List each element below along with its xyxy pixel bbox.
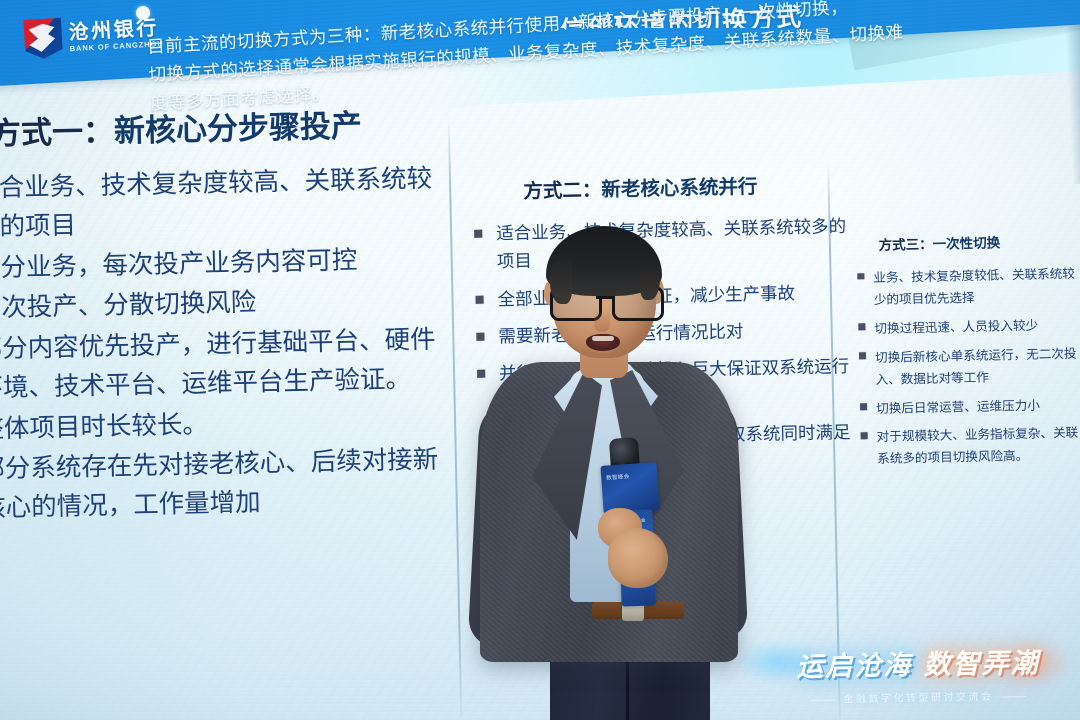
list-item-text: 拆分业务，每次投产业务内容可控 — [0, 245, 358, 283]
heading-separator: ： — [83, 114, 115, 151]
list-item-text: 适合业务、技术复杂度较高、关联系统较多的项目 — [0, 164, 432, 243]
speaker-hair — [546, 226, 662, 296]
list-item-text: 切换后新核心单系统运行，无二次投入、数据比对等工作 — [875, 346, 1077, 387]
column-heading-way-three: 方式三：一次性切换 — [878, 230, 1080, 254]
event-watermark-main-right: 数智弄潮 — [923, 648, 1040, 681]
bullet-list-way-one: 适合业务、技术复杂度较高、关联系统较多的项目 拆分业务，每次投产业务内容可控 多… — [0, 160, 446, 530]
rule-left — [810, 699, 836, 700]
heading-way-name: 一次性切换 — [933, 235, 1001, 252]
bank-shield-logo-icon — [21, 18, 63, 60]
slide-column-way-three: 方式三：一次性切换 业务、技术复杂度较低、关联系统较少的项目优先选择 切换过程迅… — [852, 230, 1080, 478]
heading-way-name: 新核心分步骤投产 — [114, 108, 363, 149]
heading-way-label: 方式三 — [879, 237, 920, 254]
heading-separator: ： — [582, 178, 602, 201]
bullet-list-way-three: 业务、技术复杂度较低、关联系统较少的项目优先选择 切换过程迅速、人员投入较少 切… — [853, 263, 1080, 471]
list-item: 部分内容优先投产，进行基础平台、硬件环境、技术平台、运维平台生产验证。 — [0, 321, 444, 409]
speaker-figure: 数智峰会 数智峰会 — [474, 212, 744, 720]
list-item: 切换过程迅速、人员投入较少 — [854, 313, 1080, 340]
bullet-square-icon — [859, 353, 866, 360]
microphone-flag-text: 数智峰会 — [606, 472, 653, 483]
list-item-text: 切换过程迅速、人员投入较少 — [874, 317, 1038, 335]
bullet-square-icon — [858, 324, 865, 331]
list-item: 适合业务、技术复杂度较高、关联系统较多的项目 — [0, 160, 440, 248]
presentation-photo: 沧州银行 BANK OF CANGZHOU 信创环境的切换方式 目前主流的切换方… — [0, 0, 1080, 720]
speaker-nose — [594, 310, 610, 332]
list-item: 部分系统存在先对接老核心、后续对接新核心的情况，工作量增加 — [0, 441, 446, 529]
heading-separator: ： — [919, 237, 933, 253]
slide-column-way-one: 方式一：新核心分步骤投产 适合业务、技术复杂度较高、关联系统较多的项目 拆分业务… — [0, 99, 447, 532]
list-item: 切换后日常运营、运维压力小 — [856, 393, 1080, 420]
list-item-text: 切换后日常运营、运维压力小 — [876, 397, 1040, 415]
speaker-mouth — [586, 334, 620, 351]
event-watermark-main-left: 运启沧海 — [796, 650, 913, 683]
list-item-text: 业务、技术复杂度较低、关联系统较少的项目优先选择 — [873, 266, 1075, 307]
event-watermark-main: 运启沧海 数智弄潮 — [767, 640, 1068, 684]
glasses-bridge — [596, 296, 612, 299]
list-item: 切换后新核心单系统运行，无二次投入、数据比对等工作 — [855, 342, 1080, 391]
list-item-text: 多次投产、分散切换风险 — [0, 288, 257, 324]
column-heading-way-two: 方式二：新老核心系统并行 — [523, 168, 846, 204]
list-item-text: 部分系统存在先对接老核心、后续对接新核心的情况，工作量增加 — [0, 445, 439, 524]
rule-right — [1000, 696, 1026, 697]
bullet-square-icon — [861, 432, 868, 439]
heading-way-label: 方式一 — [0, 114, 83, 152]
heading-way-name: 新老核心系统并行 — [601, 175, 757, 201]
bullet-square-icon — [860, 403, 867, 410]
list-item-text: 对于规模较大、业务指标复杂、关联系统多的项目切换风险高。 — [877, 425, 1079, 466]
list-item: 业务、技术复杂度较低、关联系统较少的项目优先选择 — [853, 263, 1080, 312]
bullet-square-icon — [857, 273, 864, 280]
list-item-text: 整体项目时长较长。 — [0, 409, 208, 444]
list-item-text: 部分内容优先投产，进行基础平台、硬件环境、技术平台、运维平台生产验证。 — [0, 325, 436, 404]
list-item: 对于规模较大、业务指标复杂、关联系统多的项目切换风险高。 — [857, 422, 1080, 471]
event-watermark: 运启沧海 数智弄潮 金融数字化转型研讨交流会 — [767, 640, 1068, 706]
column-heading-way-one: 方式一：新核心分步骤投产 — [0, 99, 438, 154]
speaker-hand — [608, 528, 668, 588]
heading-way-label: 方式二 — [523, 179, 582, 203]
microphone-flag-badge: 数智峰会 — [600, 462, 659, 514]
